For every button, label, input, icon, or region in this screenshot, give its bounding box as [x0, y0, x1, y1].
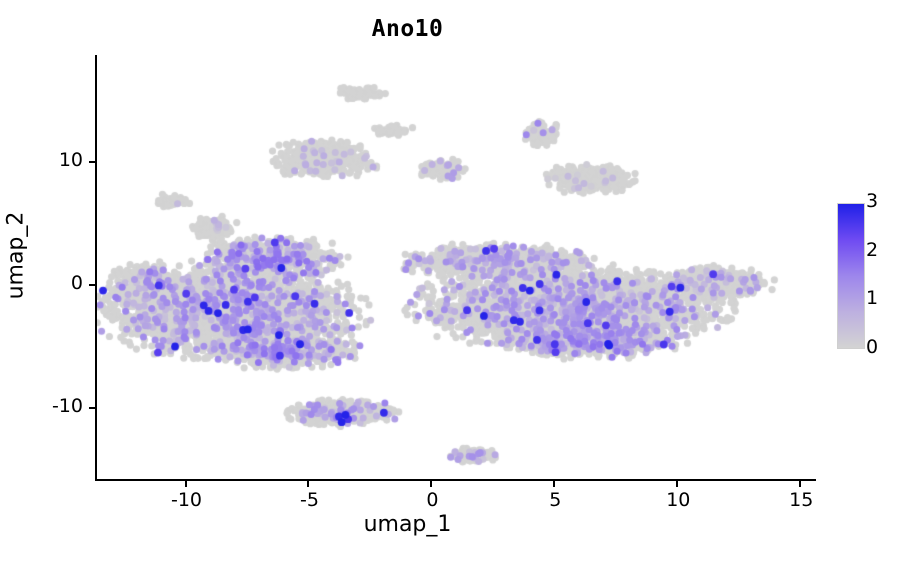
page-title: Ano10: [0, 16, 815, 42]
x-tick: [553, 481, 555, 487]
x-tick-label: -10: [157, 489, 217, 511]
colorbar: [837, 203, 865, 349]
x-tick-label: 15: [771, 489, 831, 511]
y-axis-label: umap_2: [4, 156, 29, 356]
x-tick-label: -5: [279, 489, 339, 511]
y-tick-label: 10: [19, 149, 83, 171]
y-tick: [89, 284, 95, 286]
y-tick-label: 0: [19, 272, 83, 294]
colorbar-tick-label: 3: [866, 190, 878, 212]
scatter-plot-area: [97, 56, 815, 479]
x-tick: [676, 481, 678, 487]
colorbar-tick-label: 2: [866, 239, 878, 261]
x-tick-label: 5: [525, 489, 585, 511]
colorbar-tick-label: 1: [866, 287, 878, 309]
x-tick: [430, 481, 432, 487]
x-tick-label: 0: [402, 489, 462, 511]
x-axis-spine: [95, 479, 816, 481]
y-tick-label: -10: [19, 395, 83, 417]
x-tick-label: 10: [648, 489, 708, 511]
y-tick: [89, 407, 95, 409]
x-axis-label: umap_1: [0, 512, 815, 537]
colorbar-gradient: [837, 203, 865, 349]
colorbar-tick-label: 0: [866, 336, 878, 358]
umap-feature-plot: Ano10 -10-5051015100-10 umap_1 umap_2 32…: [0, 0, 911, 562]
y-tick: [89, 161, 95, 163]
x-tick: [799, 481, 801, 487]
x-tick: [307, 481, 309, 487]
x-tick: [185, 481, 187, 487]
